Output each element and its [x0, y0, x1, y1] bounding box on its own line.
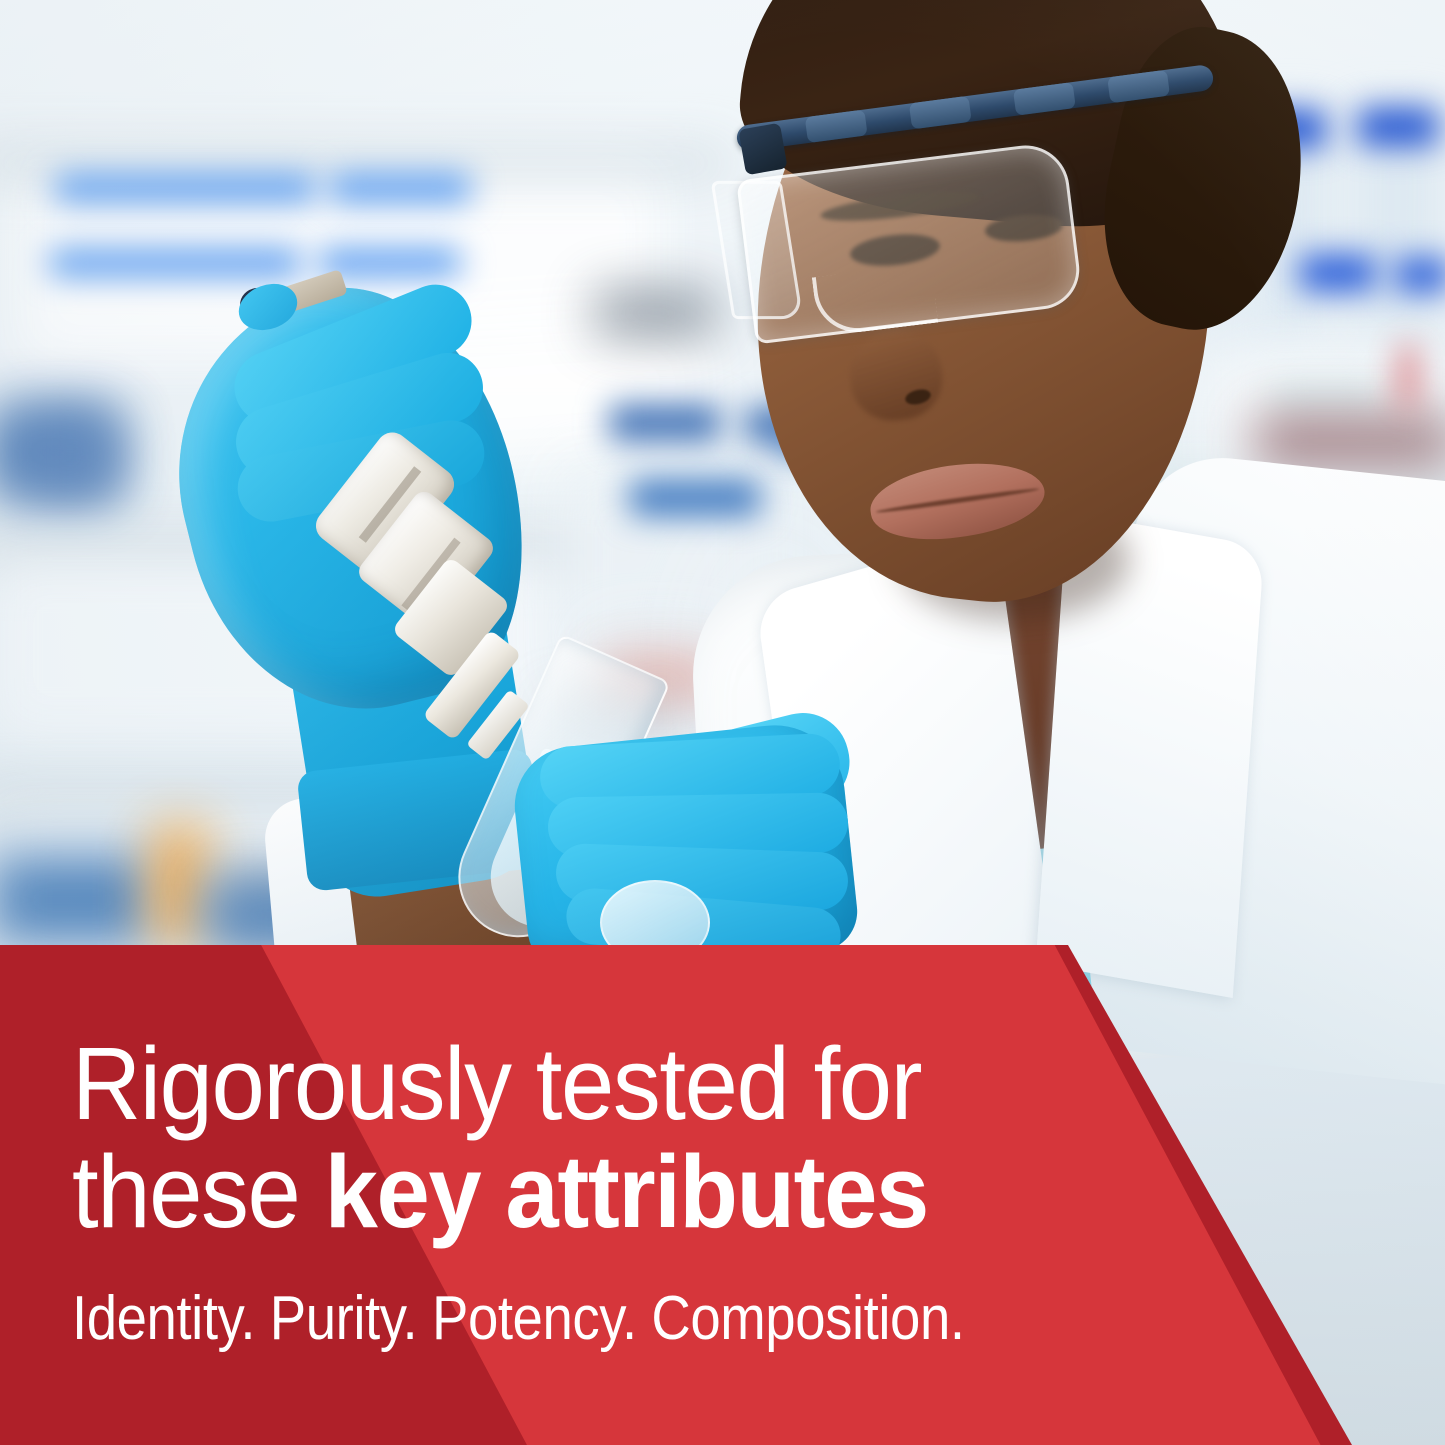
headline-line-2: these key attributes	[72, 1138, 1349, 1246]
headline-bold-part: key attributes	[325, 1134, 928, 1249]
safety-goggles-hinge	[738, 123, 787, 176]
headline-light-part: these	[72, 1134, 325, 1249]
promotional-banner-image: Rigorously tested for these key attribut…	[0, 0, 1445, 1445]
subline-attributes: Identity. Purity. Potency. Composition.	[72, 1284, 1280, 1354]
